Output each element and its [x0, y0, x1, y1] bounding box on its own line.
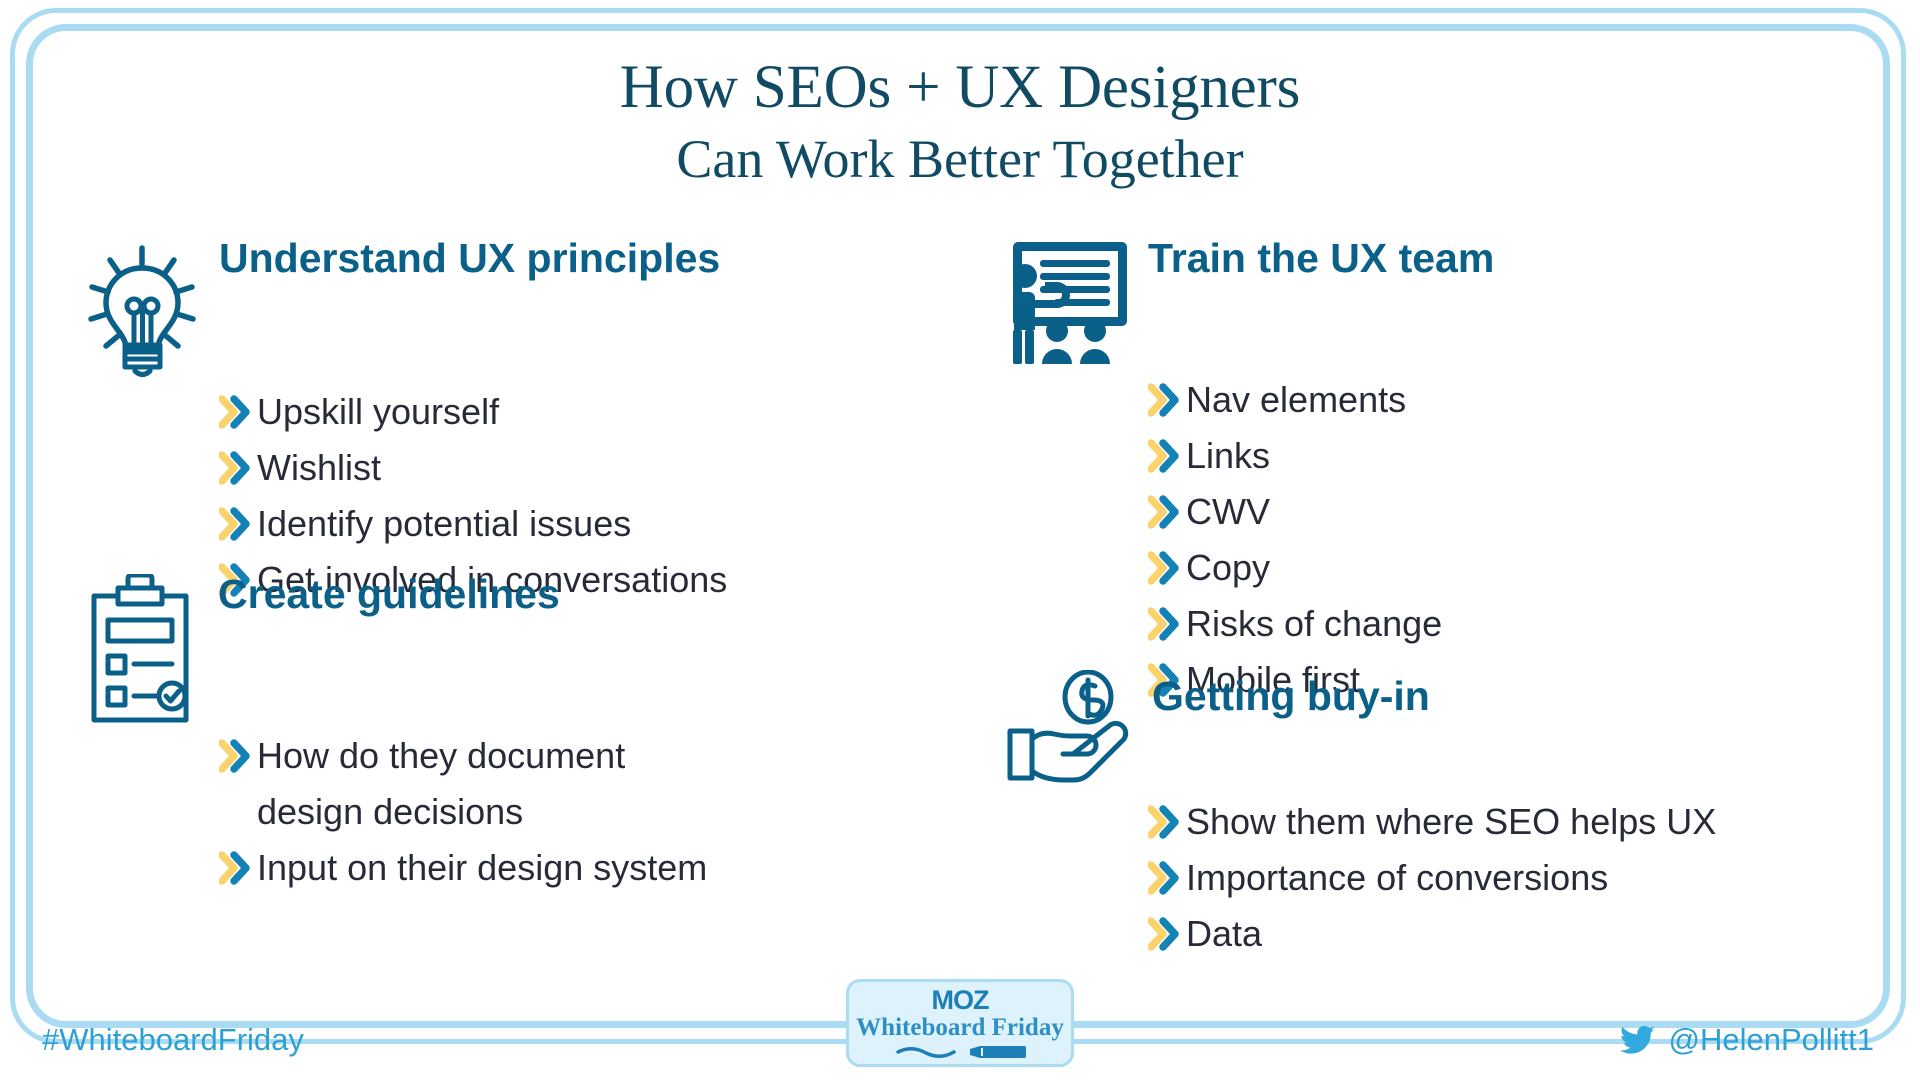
section-heading: Understand UX principles — [219, 236, 720, 280]
list-item-label: CWV — [1186, 484, 1270, 540]
double-chevron-icon — [1148, 859, 1182, 897]
bullet-list: How do they document design decisions In… — [219, 728, 707, 896]
double-chevron-icon — [219, 449, 253, 487]
twitter-bird-icon — [1620, 1025, 1656, 1055]
section-create-guidelines: Create guidelines How do they document d… — [80, 568, 707, 896]
double-chevron-icon — [1148, 915, 1182, 953]
list-item-label: Data — [1186, 906, 1262, 962]
footer-hashtag: #WhiteboardFriday — [42, 1022, 304, 1058]
list-item-label: Links — [1186, 428, 1270, 484]
title-line-2: Can Work Better Together — [0, 124, 1920, 194]
lightbulb-icon — [80, 240, 205, 380]
list-item-label: Risks of change — [1186, 596, 1442, 652]
double-chevron-icon — [1148, 493, 1182, 531]
double-chevron-icon — [219, 849, 253, 887]
section-getting-buy-in: Getting buy-in Show them where SEO helps… — [1000, 668, 1716, 962]
list-item: Input on their design system — [219, 840, 707, 896]
section-heading: Train the UX team — [1148, 236, 1494, 280]
double-chevron-icon — [1148, 549, 1182, 587]
list-item: Upskill yourself — [219, 384, 727, 440]
footer-handle-group: @HelenPollitt1 — [1620, 1022, 1874, 1058]
list-item: Nav elements — [1148, 372, 1494, 428]
moz-wordmark: MOZ — [932, 987, 989, 1013]
section-header: Getting buy-in — [1000, 668, 1716, 792]
list-item-label: Copy — [1186, 540, 1270, 596]
section-header: Create guidelines — [80, 568, 707, 724]
list-item-label: Show them where SEO helps UX — [1186, 794, 1716, 850]
list-item-label: Wishlist — [257, 440, 381, 496]
list-item-label: Input on their design system — [257, 840, 707, 896]
double-chevron-icon — [1148, 605, 1182, 643]
section-train-the-ux-team: Train the UX team Nav elements Links — [1000, 232, 1494, 708]
list-item-label: Upskill yourself — [257, 384, 499, 440]
double-chevron-icon — [1148, 803, 1182, 841]
section-header: Understand UX principles — [80, 232, 727, 380]
bullet-list: Nav elements Links CWV — [1148, 372, 1494, 708]
list-item: How do they document design decisions — [219, 728, 707, 840]
list-item-label: Identify potential issues — [257, 496, 631, 552]
list-item: Show them where SEO helps UX — [1148, 794, 1716, 850]
double-chevron-icon — [219, 737, 253, 775]
list-item: Copy — [1148, 540, 1494, 596]
list-item: Identify potential issues — [219, 496, 727, 552]
list-item-label: How do they document design decisions — [257, 728, 625, 840]
double-chevron-icon — [1148, 437, 1182, 475]
bullet-list: Show them where SEO helps UX Importance … — [1148, 794, 1716, 962]
list-item: Risks of change — [1148, 596, 1494, 652]
list-item: Links — [1148, 428, 1494, 484]
section-header: Train the UX team — [1000, 232, 1494, 368]
list-item: CWV — [1148, 484, 1494, 540]
page-title: How SEOs + UX Designers Can Work Better … — [0, 52, 1920, 194]
clipboard-checklist-icon — [80, 574, 200, 724]
whiteboard-marker-icon — [890, 1044, 1030, 1060]
double-chevron-icon — [1148, 381, 1182, 419]
double-chevron-icon — [219, 505, 253, 543]
presenter-board-icon — [1000, 238, 1140, 368]
hand-with-coin-icon — [1000, 670, 1148, 792]
list-item: Importance of conversions — [1148, 850, 1716, 906]
moz-badge-subtitle: Whiteboard Friday — [856, 1013, 1064, 1043]
list-item-label: Nav elements — [1186, 372, 1406, 428]
list-item: Wishlist — [219, 440, 727, 496]
list-item: Data — [1148, 906, 1716, 962]
section-understand-ux-principles: Understand UX principles Upskill yoursel… — [80, 232, 727, 608]
list-item-label: Importance of conversions — [1186, 850, 1608, 906]
double-chevron-icon — [219, 393, 253, 431]
footer-handle-label: @HelenPollitt1 — [1668, 1022, 1874, 1058]
section-heading: Getting buy-in — [1152, 674, 1430, 718]
section-heading: Create guidelines — [218, 572, 560, 616]
moz-whiteboard-friday-badge: MOZ Whiteboard Friday — [846, 979, 1074, 1067]
title-line-1: How SEOs + UX Designers — [0, 52, 1920, 124]
